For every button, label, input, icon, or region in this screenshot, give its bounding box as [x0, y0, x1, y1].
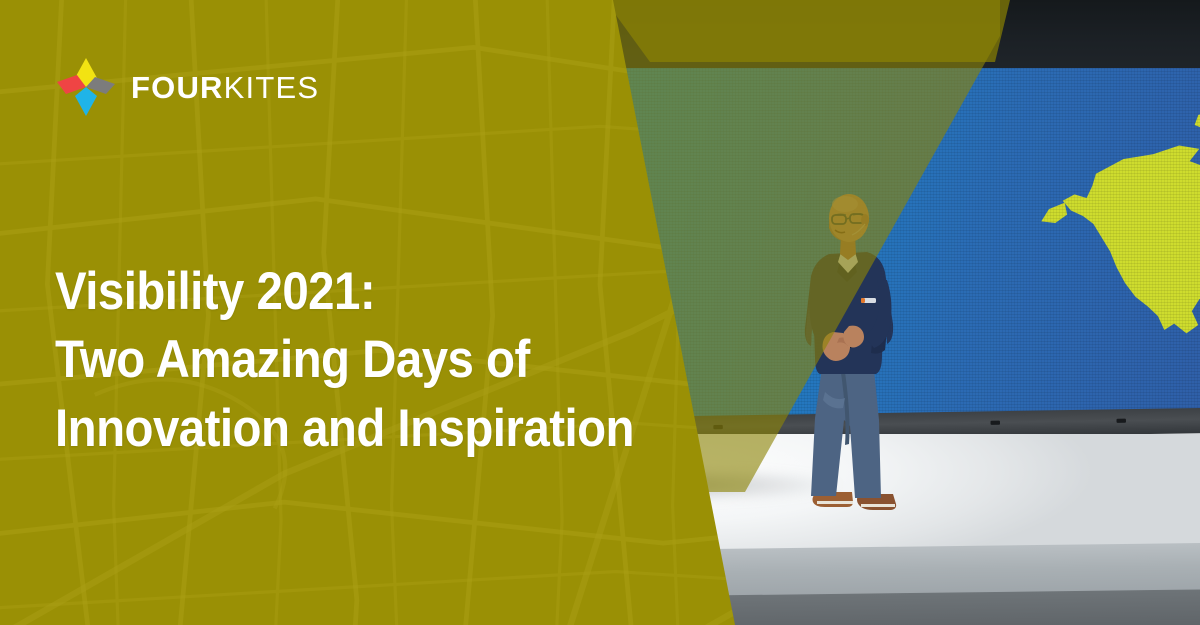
wordmark-kites: KITES	[224, 70, 320, 105]
headline-line-2: Two Amazing Days of	[55, 326, 628, 395]
headline-line-3: Innovation and Inspiration	[55, 395, 628, 464]
fourkites-wordmark: FOURKITES	[131, 72, 319, 103]
fourkites-diamond-star-logo-icon	[55, 56, 117, 118]
banner-graphic: Welcome to our 1,500 attendees, from ove…	[0, 0, 1200, 625]
fourkites-logo[interactable]: FOURKITES	[55, 56, 319, 118]
wordmark-four: FOUR	[131, 70, 224, 105]
page-title: Visibility 2021: Two Amazing Days of Inn…	[55, 258, 628, 465]
headline-line-1: Visibility 2021:	[55, 258, 628, 327]
north-america-map-icon	[1001, 68, 1200, 389]
